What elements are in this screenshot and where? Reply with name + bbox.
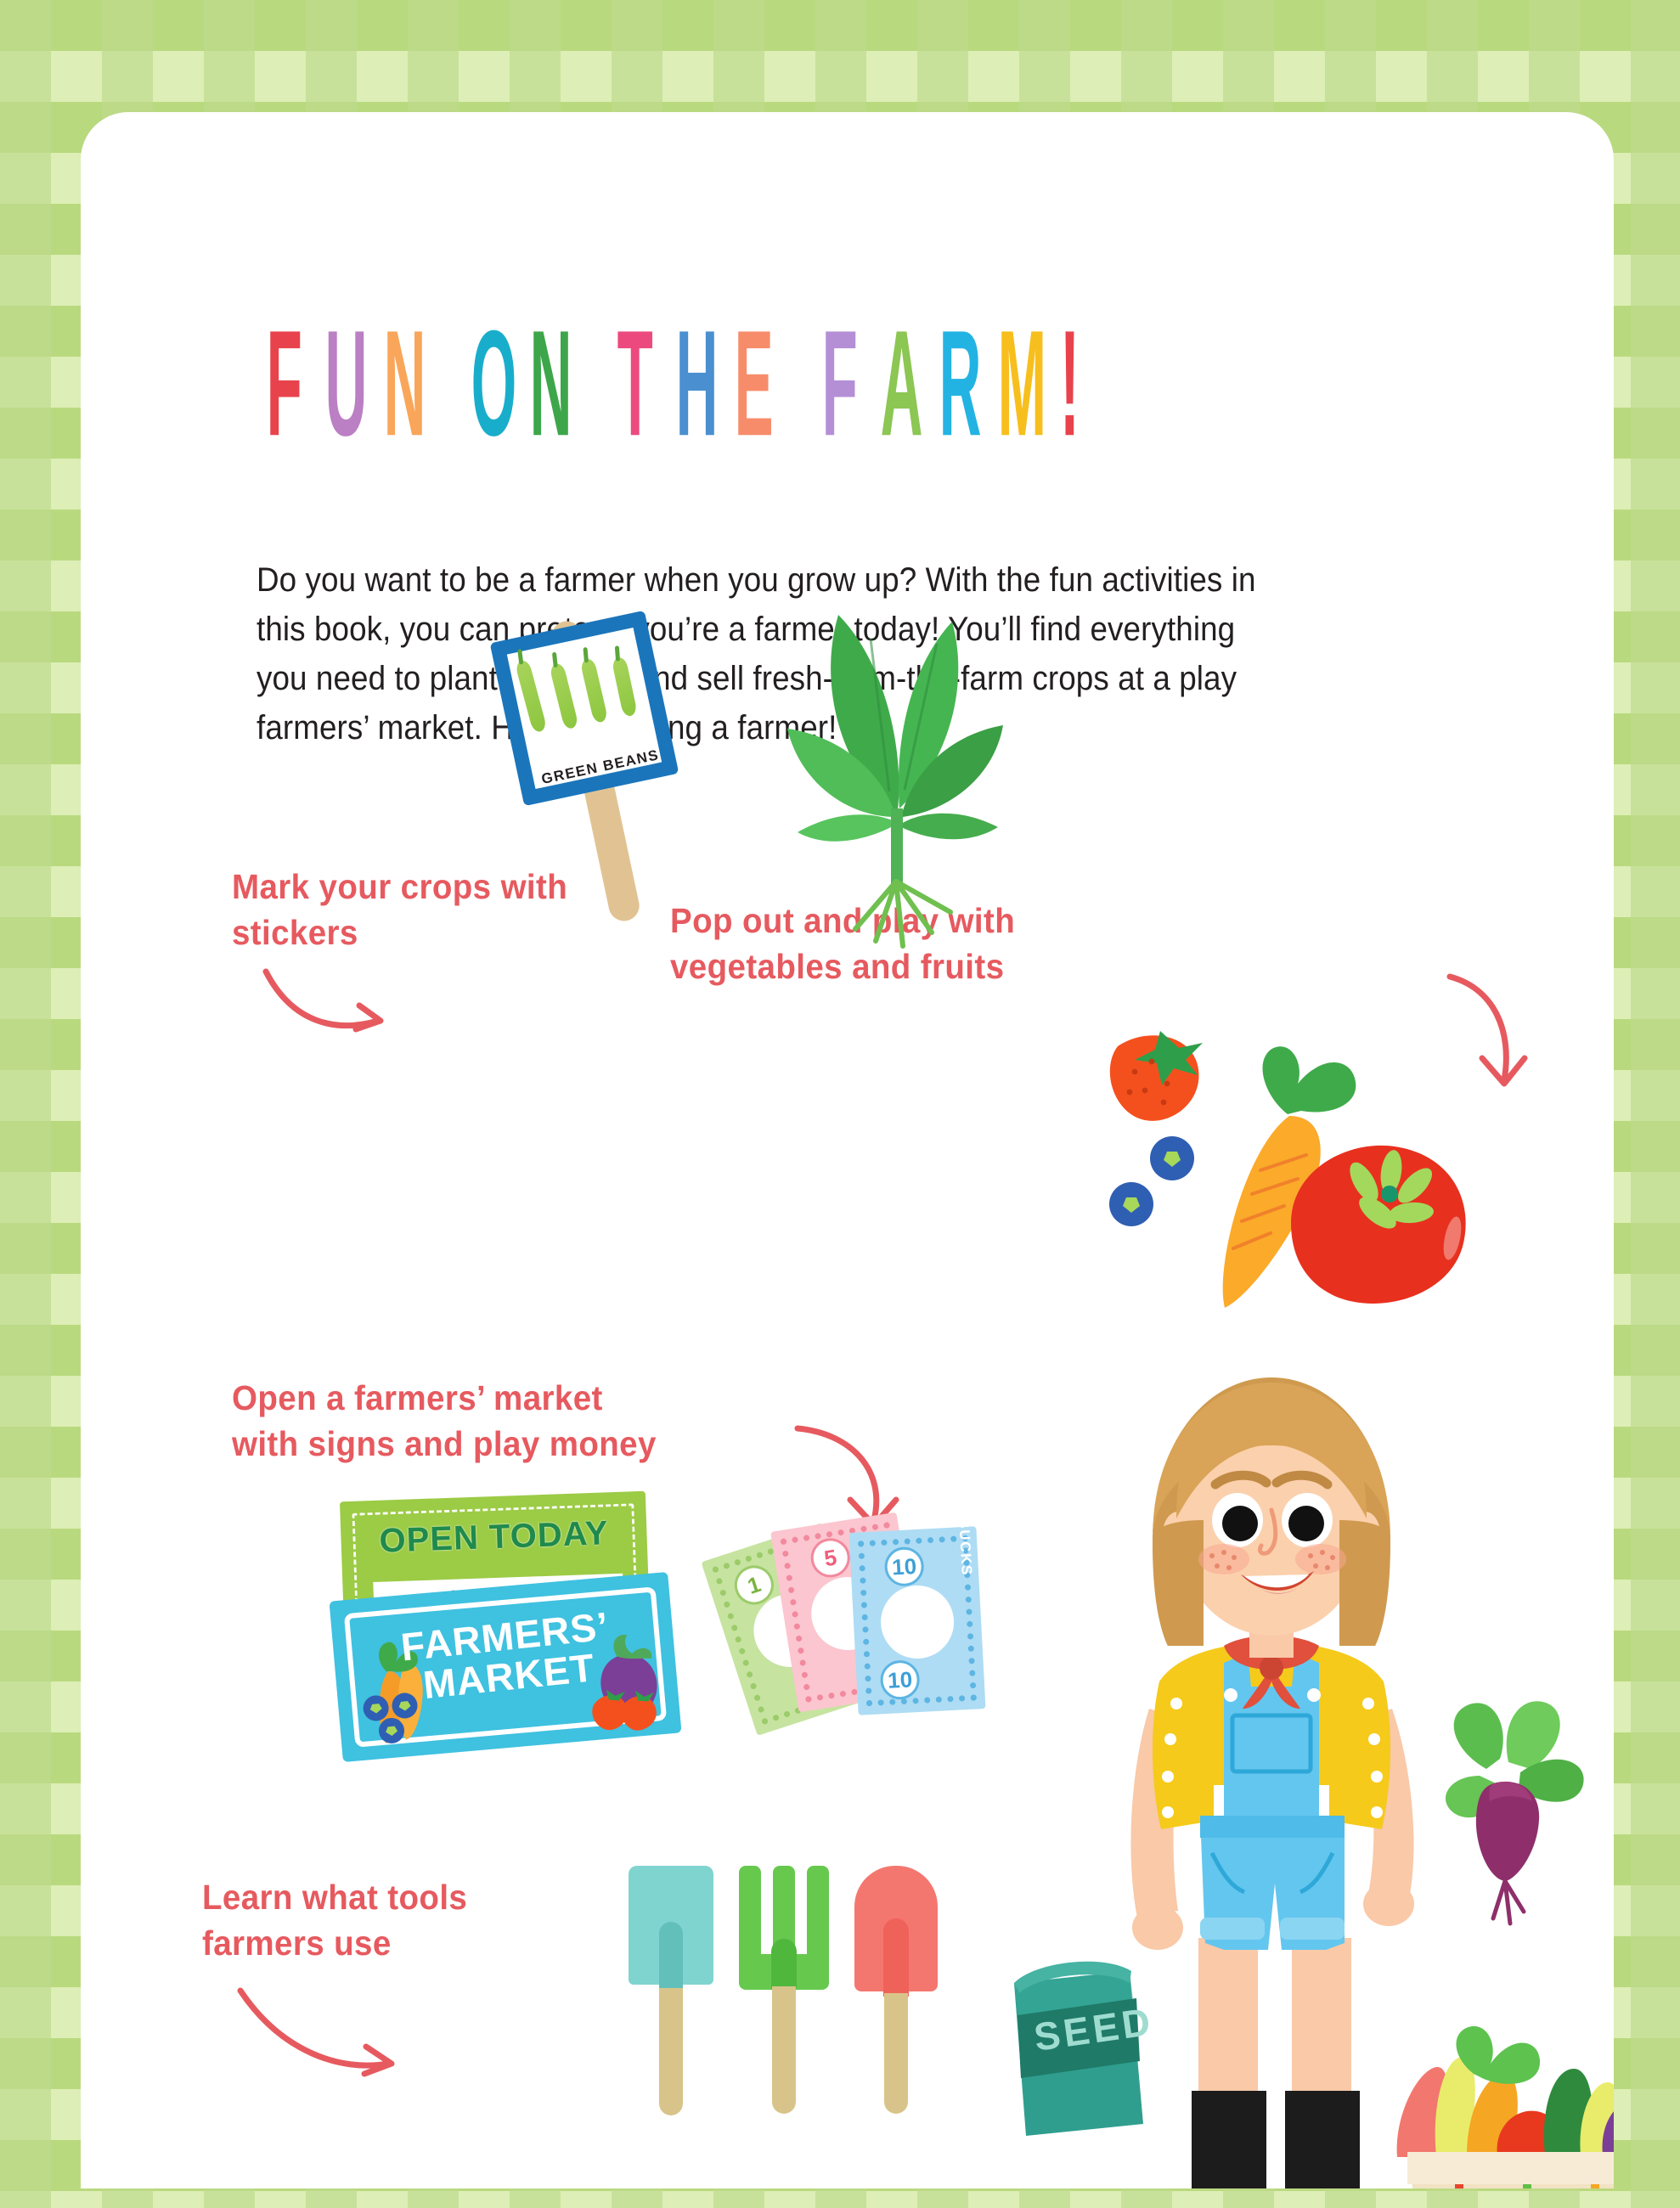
strawberry-icon	[1110, 1031, 1203, 1121]
title-letter: O	[471, 322, 499, 445]
page-title: FUNONTHEFARM!	[251, 343, 1099, 445]
bean-pod	[515, 659, 548, 733]
bean-pod	[580, 657, 609, 724]
title-letter: R	[939, 322, 967, 445]
callout-learn-tools: Learn what tools farmers use	[202, 1874, 521, 1966]
market-signs-illustration: OPEN TODAY ____ AM to ____ PM FARMERS’ M…	[335, 1496, 692, 1777]
tomato-icon	[1291, 1146, 1466, 1304]
bean-pod	[612, 656, 638, 718]
spade-handle	[659, 1988, 683, 2115]
bill-banner: TEN BUCKS	[953, 1479, 975, 1576]
play-money-illustration: 1 5 10 10 TEN BUCKS	[726, 1509, 1015, 1764]
bean-pod	[549, 662, 578, 730]
marker-plate: GREEN BEANS	[490, 611, 679, 806]
strawberries-icon	[587, 1678, 668, 1738]
produce-basket-illustration	[1389, 2023, 1614, 2188]
crop-marker-illustration: GREEN BEANS	[499, 613, 779, 953]
trowel-handle	[884, 1993, 908, 2114]
arrow-to-tools	[234, 1980, 403, 2091]
title-letter: A	[881, 322, 908, 445]
title-letter: !	[1057, 322, 1084, 445]
garden-fork-tool	[739, 1866, 829, 2121]
title-letter: E	[735, 322, 762, 445]
produce-cluster-illustration	[1079, 1012, 1478, 1310]
title-letter: F	[822, 322, 849, 445]
trowel-tool	[854, 1866, 938, 2121]
title-letter: N	[384, 322, 411, 445]
content-card: FUNONTHEFARM! Do you want to be a farmer…	[81, 112, 1614, 2188]
blueberry-icon	[1109, 1182, 1153, 1226]
garden-tools-illustration	[612, 1866, 951, 2188]
title-letter: U	[325, 322, 352, 445]
title-letter: F	[267, 322, 294, 445]
fork-handle	[772, 1986, 796, 2114]
callout-open-market: Open a farmers’ market with signs and pl…	[232, 1375, 679, 1467]
seedling-illustration	[743, 562, 1049, 961]
title-letter: H	[676, 322, 703, 445]
title-letter: T	[617, 322, 645, 445]
blueberry-icon	[1150, 1136, 1194, 1180]
spade-tool	[629, 1866, 713, 2121]
bill-ten: 10 10 TEN BUCKS	[848, 1526, 985, 1715]
title-letter: M	[998, 322, 1025, 445]
farmers-market-sign: FARMERS’ MARKET	[329, 1572, 681, 1762]
arrow-to-marker	[259, 961, 395, 1038]
title-letter: N	[530, 322, 557, 445]
